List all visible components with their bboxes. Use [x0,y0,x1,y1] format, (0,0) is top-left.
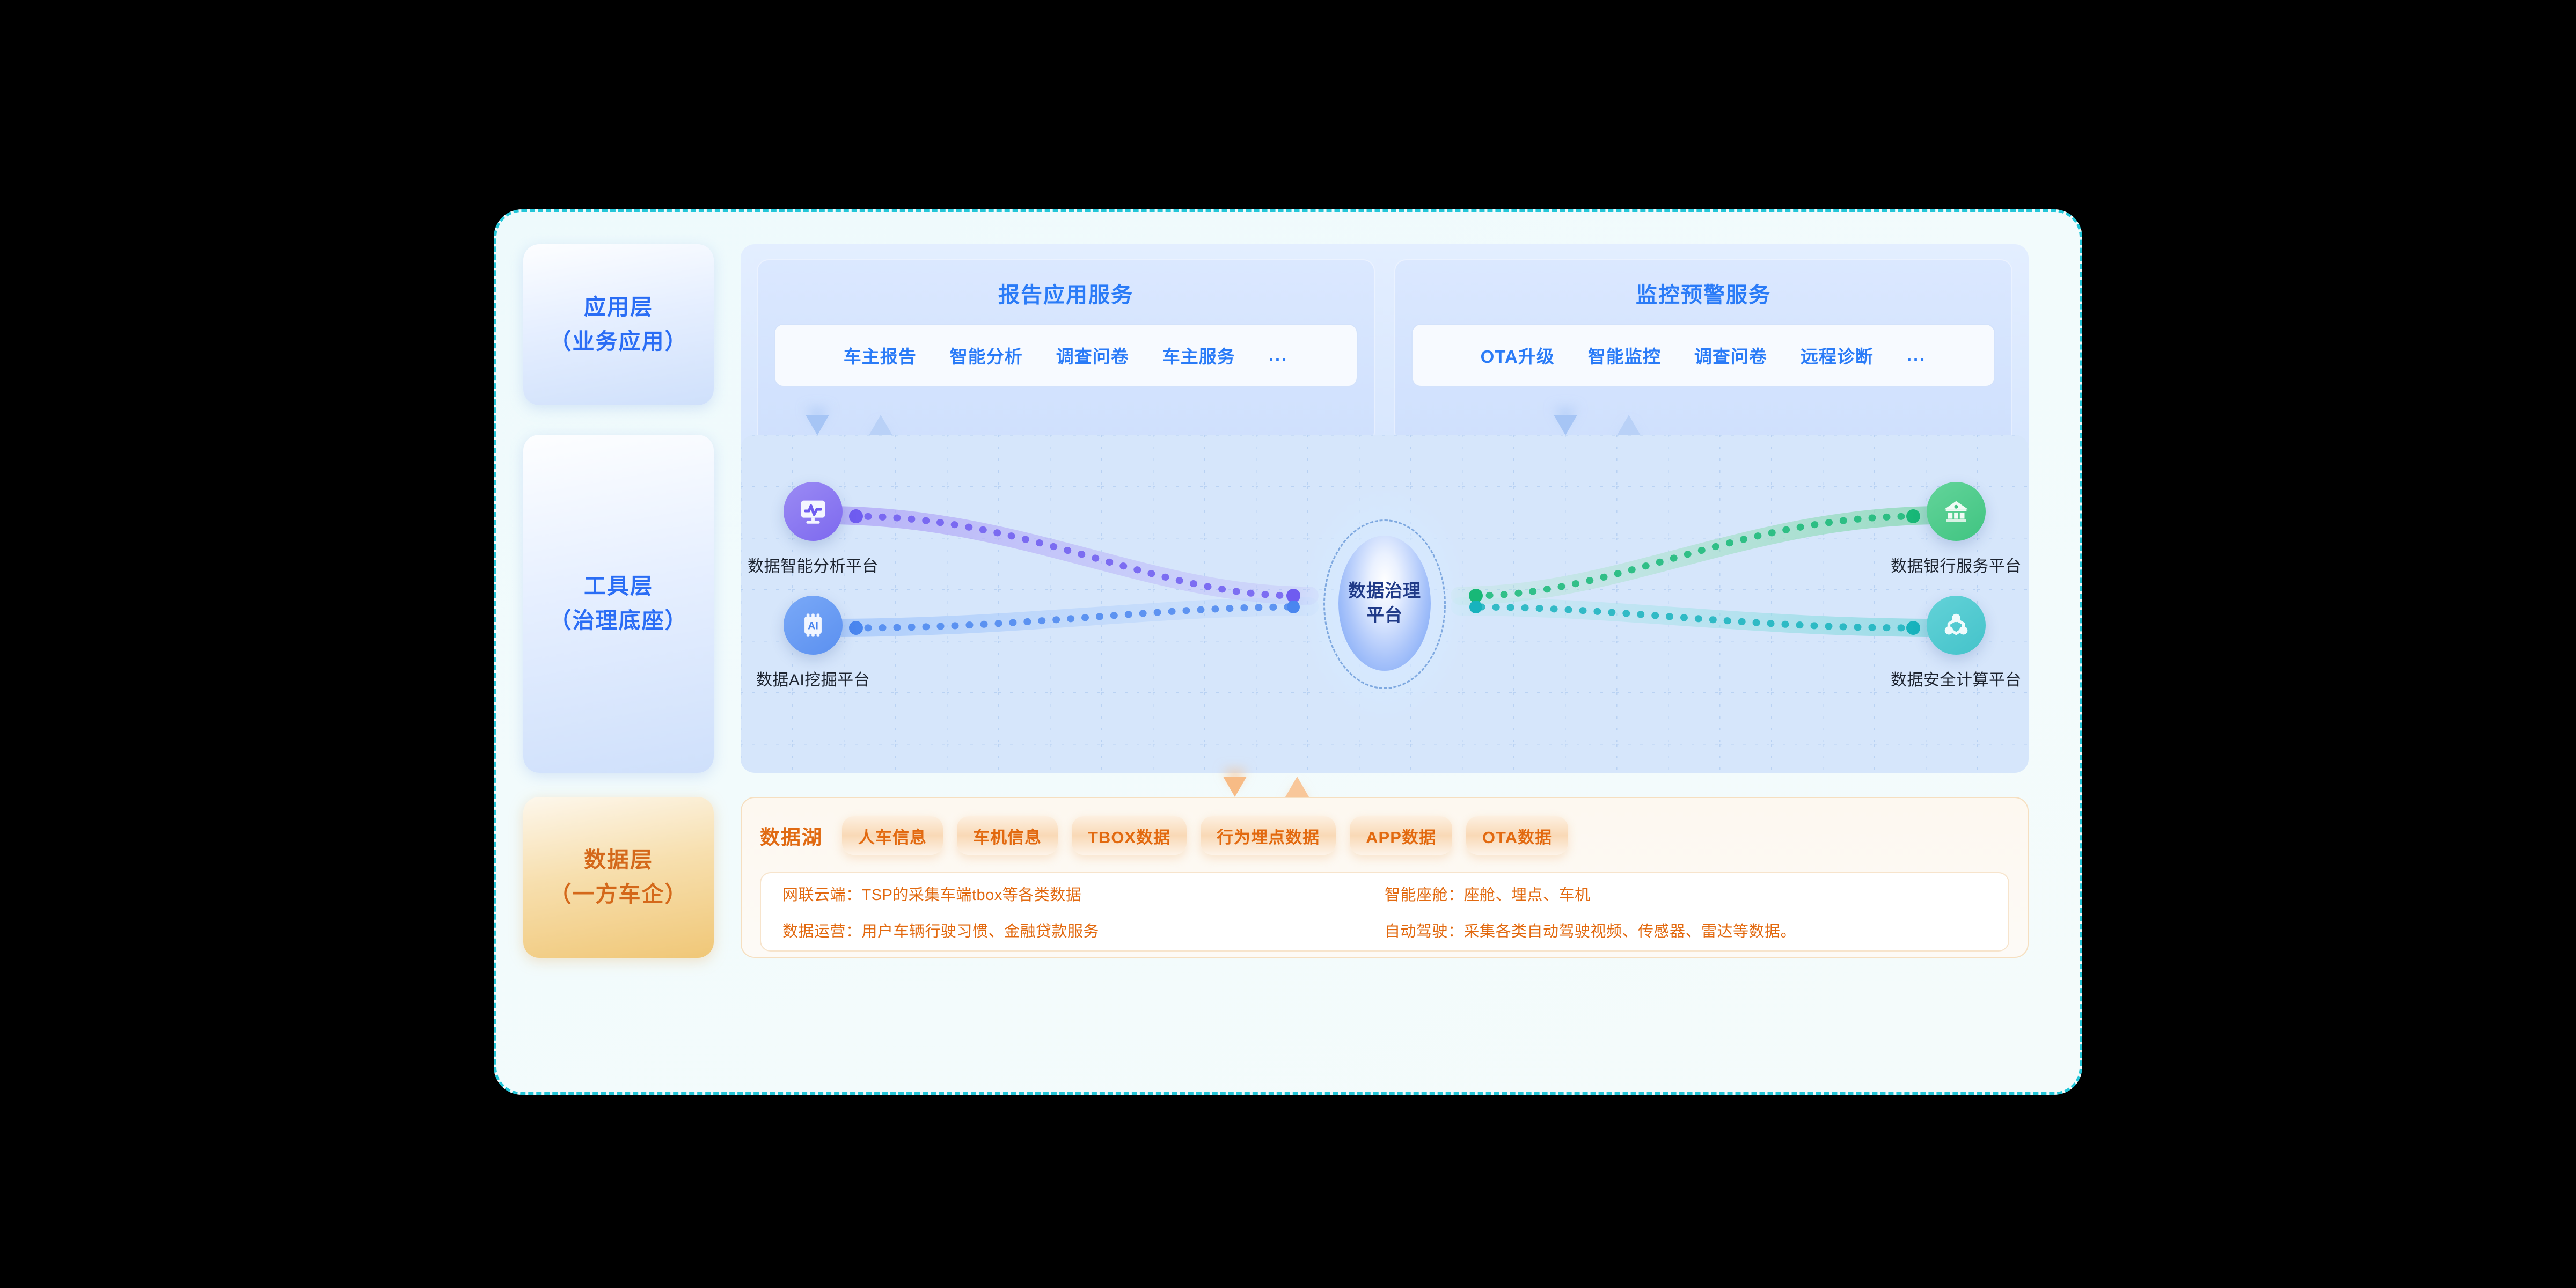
data-lake-tag[interactable]: OTA数据 [1466,816,1568,855]
node-label: 数据AI挖掘平台 [756,667,870,690]
rail-label-line2: （一方车企） [550,877,688,912]
bank-icon [1927,482,1986,541]
node-data-bank-platform[interactable]: 数据银行服务平台 [1902,482,2010,576]
central-hub: 数据治理 平台 [1300,486,1469,722]
service-item[interactable]: 车主报告 [844,342,917,368]
service-item[interactable]: 车主服务 [1162,342,1235,368]
node-data-security-platform[interactable]: 数据安全计算平台 [1902,596,2010,690]
node-label: 数据安全计算平台 [1891,667,2022,690]
data-lake-tag[interactable]: APP数据 [1350,816,1452,855]
service-item-list: OTA升级 智能监控 调查问卷 远程诊断 ... [1411,324,1995,387]
tool-layer-panel: 数据治理 平台 数据智能分析平台 [741,435,2029,773]
description-column-right: 智能座舱：座舱、埋点、车机 自动驾驶：采集各类自动驾驶视频、传感器、雷达等数据。 [1385,886,1987,938]
svg-text:AI: AI [808,620,818,632]
data-lake-tag[interactable]: 行为埋点数据 [1201,816,1336,855]
service-item-list: 车主报告 智能分析 调查问卷 车主服务 ... [774,324,1358,387]
node-data-analysis-platform[interactable]: 数据智能分析平台 [759,482,867,576]
description-column-left: 网联云端：TSP的采集车端tbox等各类数据 数据运营：用户车辆行驶习惯、金融贷… [782,886,1385,938]
data-lake-tag[interactable]: TBOX数据 [1072,816,1187,855]
monitor-chart-icon [784,482,843,541]
node-data-ai-mining-platform[interactable]: AI 数据AI挖掘平台 [759,596,867,690]
service-item[interactable]: 调查问卷 [1056,342,1129,368]
rail-label-line1: 应用层 [584,290,653,325]
data-source-description-box: 网联云端：TSP的采集车端tbox等各类数据 数据运营：用户车辆行驶习惯、金融贷… [760,872,2009,952]
hub-label-line2: 平台 [1366,603,1403,627]
arrow-down-icon-right [1554,415,1577,435]
service-item[interactable]: 智能分析 [950,342,1023,368]
data-lake-row: 数据湖 人车信息 车机信息 TBOX数据 行为埋点数据 APP数据 OTA数据 [760,812,2009,859]
secure-network-icon [1927,596,1986,655]
rail-label-line2: （业务应用） [550,325,688,359]
service-title: 监控预警服务 [1636,277,1771,309]
service-item-more[interactable]: ... [1907,345,1927,365]
ai-chip-icon: AI [784,596,843,655]
rail-label-line1: 工具层 [584,569,653,604]
service-card-monitoring[interactable]: 监控预警服务 OTA升级 智能监控 调查问卷 远程诊断 ... [1394,259,2012,444]
description-line: 数据运营：用户车辆行驶习惯、金融贷款服务 [782,919,1385,941]
service-item[interactable]: 智能监控 [1588,342,1661,368]
service-item[interactable]: 远程诊断 [1801,342,1874,368]
hub-core-node[interactable]: 数据治理 平台 [1338,536,1431,671]
arrow-down-icon-left [806,415,829,435]
rail-card-application-layer: 应用层 （业务应用） [523,244,714,405]
service-item[interactable]: 调查问卷 [1694,342,1767,368]
description-line: 智能座舱：座舱、埋点、车机 [1385,882,1987,905]
rail-label-line1: 数据层 [584,843,653,877]
architecture-diagram-frame: 应用层 （业务应用） 工具层 （治理底座） 数据层 （一方车企） 报告应用服务 … [494,209,2082,1095]
data-lake-title: 数据湖 [760,821,823,850]
node-label: 数据智能分析平台 [748,553,879,576]
service-item[interactable]: OTA升级 [1481,342,1555,368]
data-lake-tag[interactable]: 人车信息 [842,816,943,855]
node-label: 数据银行服务平台 [1891,553,2022,576]
arrow-up-icon-data [1285,777,1309,797]
application-layer-panel: 报告应用服务 车主报告 智能分析 调查问卷 车主服务 ... 监控预警服务 OT… [741,244,2029,459]
arrow-down-icon-data [1223,777,1247,797]
data-lake-tag[interactable]: 车机信息 [957,816,1058,855]
data-layer-panel: 数据湖 人车信息 车机信息 TBOX数据 行为埋点数据 APP数据 OTA数据 … [741,797,2029,958]
arrow-up-icon-left [869,415,892,435]
description-line: 网联云端：TSP的采集车端tbox等各类数据 [782,882,1385,905]
service-item-more[interactable]: ... [1269,345,1289,365]
description-line: 自动驾驶：采集各类自动驾驶视频、传感器、雷达等数据。 [1385,919,1987,941]
rail-label-line2: （治理底座） [550,604,688,638]
service-card-report[interactable]: 报告应用服务 车主报告 智能分析 调查问卷 车主服务 ... [757,259,1375,444]
rail-card-data-layer: 数据层 （一方车企） [523,797,714,958]
service-title: 报告应用服务 [998,277,1133,309]
hub-label-line1: 数据治理 [1348,579,1421,603]
rail-card-tool-layer: 工具层 （治理底座） [523,435,714,773]
arrow-up-icon-right [1617,415,1641,435]
